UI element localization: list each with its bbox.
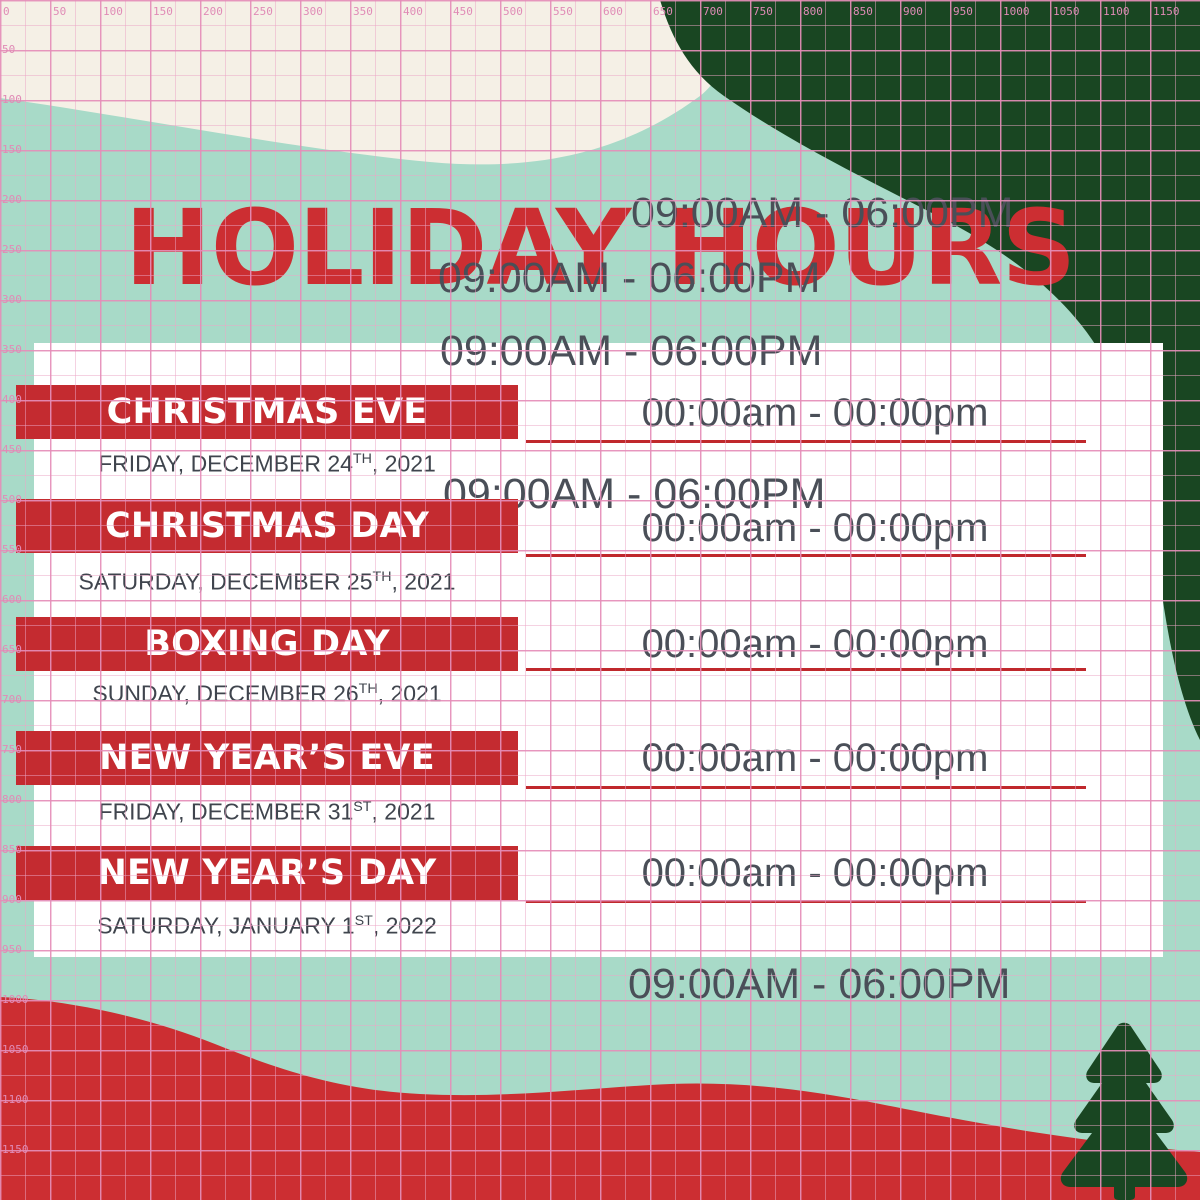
ruler-x-label: 650 <box>653 6 673 17</box>
ruler-y-label: 800 <box>2 794 22 805</box>
ruler-x-label: 800 <box>803 6 823 17</box>
ruler-y-label: 550 <box>2 544 22 555</box>
ruler-y-label: 150 <box>2 144 22 155</box>
ruler-y-label: 1000 <box>2 994 29 1005</box>
ruler-x-label: 300 <box>303 6 323 17</box>
ruler-x-label: 100 <box>103 6 123 17</box>
ruler-x-label: 700 <box>703 6 723 17</box>
ruler-y-label: 1150 <box>2 1144 29 1155</box>
ruler-y-label: 300 <box>2 294 22 305</box>
ruler-y-label: 600 <box>2 594 22 605</box>
ruler-y-label: 400 <box>2 394 22 405</box>
ruler-x-label: 1150 <box>1153 6 1180 17</box>
ruler-x-label: 500 <box>503 6 523 17</box>
ruler-x-label: 850 <box>853 6 873 17</box>
ruler-x-label: 0 <box>3 6 10 17</box>
ruler-y-label: 500 <box>2 494 22 505</box>
ruler-y-label: 700 <box>2 694 22 705</box>
ruler-y-label: 950 <box>2 944 22 955</box>
ruler-y-label: 1050 <box>2 1044 29 1055</box>
ruler-y-label: 250 <box>2 244 22 255</box>
ruler-y-label: 350 <box>2 344 22 355</box>
ruler-x-label: 550 <box>553 6 573 17</box>
ruler-x-label: 900 <box>903 6 923 17</box>
ruler-x-label: 750 <box>753 6 773 17</box>
ruler-x-label: 50 <box>53 6 66 17</box>
ruler-label-layer: 0501001502002503003504004505005506006507… <box>0 0 1200 1200</box>
ruler-x-label: 1000 <box>1003 6 1030 17</box>
ruler-x-label: 400 <box>403 6 423 17</box>
ruler-x-label: 950 <box>953 6 973 17</box>
ruler-x-label: 150 <box>153 6 173 17</box>
ruler-x-label: 450 <box>453 6 473 17</box>
holiday-hours-poster: HOLIDAY HOURS 09:00AM - 06:00PM09:00AM -… <box>0 0 1200 1200</box>
ruler-y-label: 1100 <box>2 1094 29 1105</box>
ruler-x-label: 600 <box>603 6 623 17</box>
ruler-y-label: 50 <box>2 44 15 55</box>
ruler-y-label: 650 <box>2 644 22 655</box>
ruler-x-label: 250 <box>253 6 273 17</box>
ruler-y-label: 450 <box>2 444 22 455</box>
ruler-x-label: 200 <box>203 6 223 17</box>
ruler-y-label: 750 <box>2 744 22 755</box>
ruler-y-label: 100 <box>2 94 22 105</box>
ruler-x-label: 1100 <box>1103 6 1130 17</box>
ruler-x-label: 350 <box>353 6 373 17</box>
ruler-y-label: 850 <box>2 844 22 855</box>
ruler-y-label: 200 <box>2 194 22 205</box>
ruler-y-label: 900 <box>2 894 22 905</box>
ruler-x-label: 1050 <box>1053 6 1080 17</box>
